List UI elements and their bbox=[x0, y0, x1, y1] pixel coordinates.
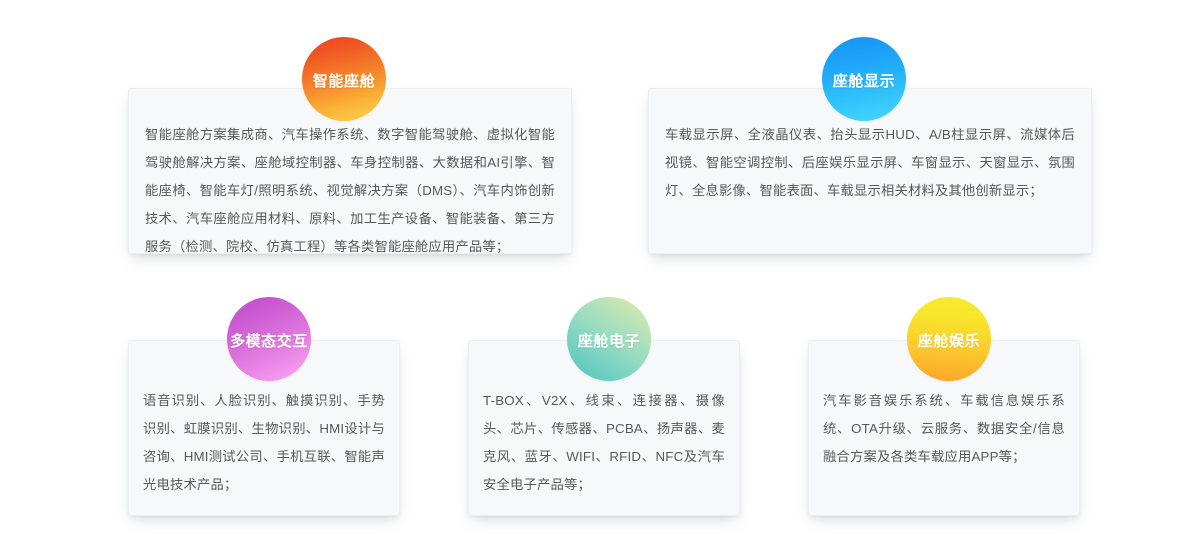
category-badge-label: 座舱显示 bbox=[833, 70, 895, 91]
category-badge-label: 座舱娱乐 bbox=[918, 330, 980, 351]
category-badge-intelligent-cockpit[interactable]: 智能座舱 bbox=[302, 37, 386, 121]
category-badge-cockpit-display[interactable]: 座舱显示 bbox=[822, 37, 906, 121]
category-badge-label: 智能座舱 bbox=[313, 70, 375, 91]
category-badge-label: 座舱电子 bbox=[578, 330, 640, 351]
category-badge-label: 多模态交互 bbox=[230, 330, 308, 351]
category-card-body: 车载显示屏、全液晶仪表、抬头显示HUD、A/B柱显示屏、流媒体后视镜、智能空调控… bbox=[665, 121, 1075, 205]
category-card-body: T-BOX、V2X、线束、连接器、摄像头、芯片、传感器、PCBA、扬声器、麦克风… bbox=[483, 387, 725, 499]
category-cards-board: 智能座舱方案集成商、汽车操作系统、数字智能驾驶舱、虚拟化智能驾驶舱解决方案、座舱… bbox=[0, 0, 1200, 550]
category-card-body: 汽车影音娱乐系统、车载信息娱乐系统、OTA升级、云服务、数据安全/信息融合方案及… bbox=[823, 387, 1065, 471]
category-badge-cockpit-electronics[interactable]: 座舱电子 bbox=[567, 297, 651, 381]
category-card-body: 智能座舱方案集成商、汽车操作系统、数字智能驾驶舱、虚拟化智能驾驶舱解决方案、座舱… bbox=[145, 121, 555, 261]
category-badge-cockpit-entertainment[interactable]: 座舱娱乐 bbox=[907, 297, 991, 381]
category-badge-multimodal-interaction[interactable]: 多模态交互 bbox=[227, 297, 311, 381]
category-card-body: 语音识别、人脸识别、触摸识别、手势识别、虹膜识别、生物识别、HMI设计与咨询、H… bbox=[143, 387, 385, 499]
